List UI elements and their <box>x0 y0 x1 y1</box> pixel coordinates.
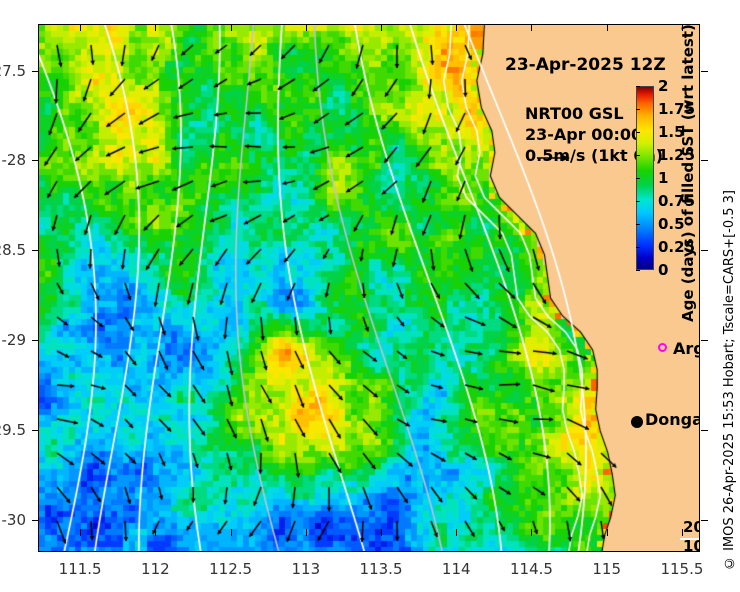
y-tick <box>701 250 708 251</box>
map-plot-area[interactable]: 23-Apr-2025 12Z NRT00 GSL23-Apr 00:00Z0.… <box>38 24 700 552</box>
y-tick <box>701 340 708 341</box>
y-tick-label: -28 <box>2 151 27 169</box>
x-tick <box>381 24 382 31</box>
colorbar-tick <box>636 270 640 271</box>
y-tick <box>32 71 39 72</box>
bathymetry-200m-line <box>680 538 700 540</box>
colorbar-tick-label: 1 <box>658 169 668 187</box>
x-tick-label: 114.5 <box>510 560 553 578</box>
argo-marker-icon <box>658 343 667 352</box>
y-tick <box>701 71 708 72</box>
y-tick <box>32 520 39 521</box>
x-tick-label: 112.5 <box>209 560 252 578</box>
colorbar-tick <box>636 86 640 87</box>
x-tick <box>607 24 608 31</box>
x-tick <box>155 24 156 31</box>
bathymetry-legend: 200m1000m <box>683 518 700 552</box>
x-tick <box>456 24 457 31</box>
x-tick <box>381 529 382 536</box>
x-tick <box>306 529 307 536</box>
x-tick <box>456 529 457 536</box>
x-tick-label: 113.5 <box>360 560 403 578</box>
y-tick-label: -29 <box>2 331 27 349</box>
x-tick-label: 112 <box>141 560 170 578</box>
x-tick-label: 113 <box>291 560 320 578</box>
velocity-scale-arrow-icon <box>536 152 570 164</box>
x-tick <box>531 529 532 536</box>
y-tick <box>32 340 39 341</box>
y-tick <box>701 430 708 431</box>
y-tick <box>701 160 708 161</box>
y-tick <box>701 520 708 521</box>
x-tick <box>155 529 156 536</box>
colorbar-tick <box>636 201 640 202</box>
y-tick <box>32 430 39 431</box>
x-tick <box>607 529 608 536</box>
x-tick-label: 114 <box>442 560 471 578</box>
y-tick-label: -30 <box>2 511 27 529</box>
dongara-marker-icon <box>631 416 643 428</box>
x-tick <box>231 529 232 536</box>
dongara-label: Dongara <box>645 410 700 429</box>
x-tick <box>80 24 81 31</box>
colorbar-tick <box>636 224 640 225</box>
colorbar-tick <box>636 247 640 248</box>
argo-label: Argo <box>673 339 700 358</box>
colorbar-tick-label: 2 <box>658 77 668 95</box>
colorbar-tick-label: 0 <box>658 261 668 279</box>
x-tick <box>682 24 683 31</box>
colorbar-tick <box>636 109 640 110</box>
y-tick-label: -27.5 <box>0 62 26 80</box>
date-stamp: 23-Apr-2025 12Z <box>505 55 666 75</box>
colorbar-tick <box>636 178 640 179</box>
colorbar-tick <box>636 132 640 133</box>
x-tick <box>531 24 532 31</box>
colorbar-tick <box>636 155 640 156</box>
source-line-1: NRT00 GSL <box>525 104 624 123</box>
x-tick <box>682 529 683 536</box>
y-tick <box>32 160 39 161</box>
source-line-2: 23-Apr 00:00Z <box>525 125 654 144</box>
bathymetry-200m-label: 200m <box>683 518 700 536</box>
x-tick <box>231 24 232 31</box>
x-tick <box>306 24 307 31</box>
x-tick-label: 111.5 <box>59 560 102 578</box>
x-tick <box>80 529 81 536</box>
attribution-text: © IMOS 26-Apr-2025 15:53 Hobart; Tscale=… <box>722 190 737 570</box>
y-tick <box>32 250 39 251</box>
colorbar-title: Age (days) of filled SST (wrt latest) <box>679 22 697 322</box>
x-tick-label: 115 <box>592 560 621 578</box>
x-tick-label: 115.5 <box>660 560 703 578</box>
y-tick-label: -29.5 <box>0 421 26 439</box>
y-tick-label: -28.5 <box>0 241 26 259</box>
